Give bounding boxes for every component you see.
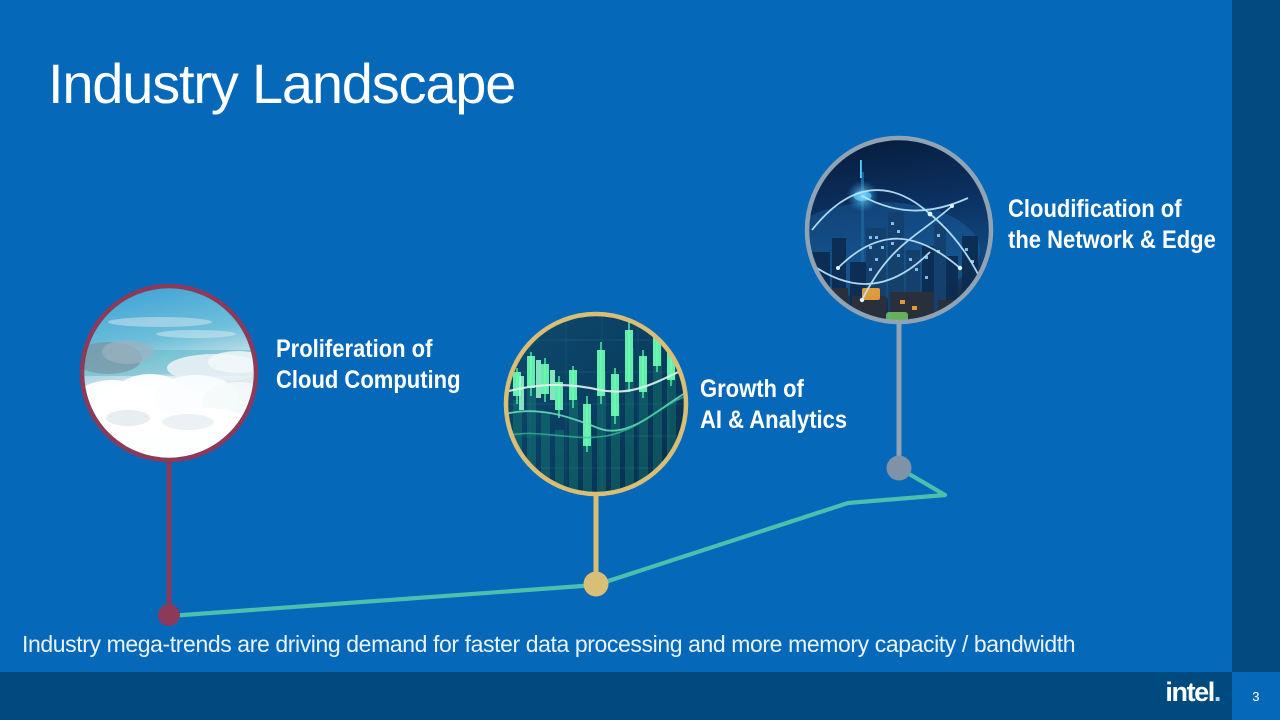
node-dot-cloud-computing[interactable] (158, 604, 180, 626)
node-label-line1: Cloudification of (1008, 195, 1182, 223)
node-dot-network-edge[interactable] (887, 456, 912, 481)
node-label-ai-analytics: Growth of AI & Analytics (700, 374, 847, 436)
slide-canvas: Industry Landscape (0, 0, 1280, 720)
slide-caption: Industry mega-trends are driving demand … (22, 629, 1075, 659)
node-image-network-edge[interactable] (780, 138, 991, 322)
diagram-canvas (0, 0, 1280, 720)
node-label-line2: the Network & Edge (1008, 226, 1216, 254)
intel-logo: intel. (1165, 677, 1220, 708)
node-label-line2: AI & Analytics (700, 406, 847, 434)
node-label-line2: Cloud Computing (276, 366, 461, 394)
node-image-ai-analytics[interactable] (505, 313, 687, 495)
node-label-cloud-computing: Proliferation of Cloud Computing (276, 334, 461, 396)
node-image-cloud-computing[interactable] (70, 286, 274, 466)
page-number-box: 3 (1232, 672, 1280, 720)
footer-bar (0, 672, 1232, 720)
node-dot-ai-analytics[interactable] (584, 572, 609, 597)
node-label-line1: Proliferation of (276, 335, 432, 363)
intel-logo-dot: . (1214, 677, 1220, 707)
node-label-network-edge: Cloudification of the Network & Edge (1008, 194, 1216, 256)
trend-line (169, 468, 945, 616)
page-number: 3 (1252, 689, 1259, 704)
intel-wordmark: intel (1165, 677, 1214, 707)
node-label-line1: Growth of (700, 375, 804, 403)
